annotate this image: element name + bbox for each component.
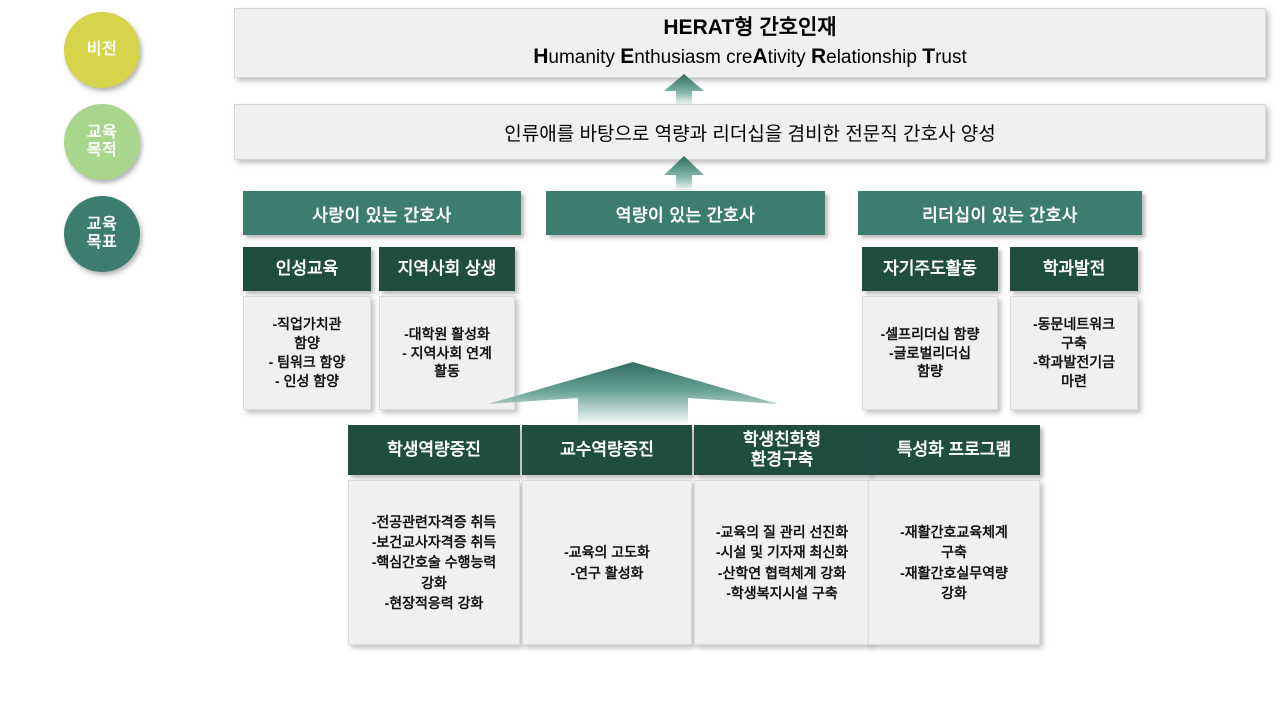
up-arrow-icon-to-purpose (664, 156, 704, 192)
sub-header-character-education-label: 인성교육 (276, 259, 339, 279)
sub-header-self-directed-activity: 자기주도활동 (862, 247, 998, 291)
strategy-header-special-program: 특성화 프로그램 (868, 425, 1040, 475)
vision-acronym: Humanity Enthusiasm creAtivity Relations… (533, 43, 967, 71)
acronym-letter-h: H (533, 45, 548, 68)
content-box-character-education: -직업가치관 함양 - 팀워크 함양 - 인성 함양 (243, 296, 371, 410)
vision-title: HERAT형 간호인재 (663, 15, 836, 41)
stage-circle-goal-label: 교육 목표 (87, 216, 117, 253)
content-box-self-directed-activity-items: -셀프리더십 함량 -글로벌리더십 함량 (881, 325, 980, 382)
strategy-header-friendly-environment: 학생친화형 환경구축 (694, 425, 870, 475)
strategy-header-faculty-competence: 교수역량증진 (522, 425, 692, 475)
strategy-box-friendly-environment-items: -교육의 질 관리 선진화 -시설 및 기자재 최신화 -산학연 협력체계 강화… (716, 522, 848, 603)
strategy-header-friendly-environment-label: 학생친화형 환경구축 (743, 430, 821, 469)
pillar-header-love: 사랑이 있는 간호사 (243, 191, 521, 235)
strategy-box-special-program: -재활간호교육체계 구축 -재활간호실무역량 강화 (868, 480, 1040, 645)
content-box-department-development: -동문네트워크 구축 -학과발전기금 마련 (1010, 296, 1138, 410)
stage-circle-goal: 교육 목표 (64, 196, 140, 272)
content-box-self-directed-activity: -셀프리더십 함량 -글로벌리더십 함량 (862, 296, 998, 410)
strategy-box-student-competence: -전공관련자격증 취득 -보건교사자격증 취득 -핵심간호술 수행능력 강화 -… (348, 480, 520, 645)
wide-up-arrow-icon (488, 358, 778, 426)
sub-header-department-development: 학과발전 (1010, 247, 1138, 291)
diagram-canvas: 비전 교육 목적 교육 목표 HERAT형 간호인재 Humanity Enth… (0, 0, 1280, 720)
content-box-community-cooperation-items: -대학원 활성화 - 지역사회 연계 활동 (402, 325, 492, 382)
strategy-header-student-competence: 학생역량증진 (348, 425, 520, 475)
content-box-character-education-items: -직업가치관 함양 - 팀워크 함양 - 인성 함양 (269, 315, 346, 391)
sub-header-self-directed-activity-label: 자기주도활동 (883, 259, 977, 279)
stage-circle-purpose: 교육 목적 (64, 104, 140, 180)
strategy-header-student-competence-label: 학생역량증진 (387, 440, 481, 460)
sub-header-character-education: 인성교육 (243, 247, 371, 291)
acronym-letter-e: E (620, 45, 634, 68)
acronym-rest-t: rust (935, 47, 967, 68)
pillar-header-love-label: 사랑이 있는 간호사 (312, 201, 452, 226)
up-arrow-icon-to-vision (664, 74, 704, 106)
sub-header-community-cooperation: 지역사회 상생 (379, 247, 515, 291)
purpose-banner: 인류애를 바탕으로 역량과 리더십을 겸비한 전문직 간호사 양성 (234, 104, 1266, 160)
acronym-rest-e: nthusiasm cre (634, 47, 752, 68)
sub-header-department-development-label: 학과발전 (1043, 259, 1106, 279)
strategy-box-faculty-competence: -교육의 고도화 -연구 활성화 (522, 480, 692, 645)
stage-circle-vision: 비전 (64, 12, 140, 88)
purpose-text: 인류애를 바탕으로 역량과 리더십을 겸비한 전문직 간호사 양성 (504, 119, 995, 146)
pillar-header-competence: 역량이 있는 간호사 (546, 191, 825, 235)
acronym-rest-r: elationship (826, 47, 922, 68)
strategy-box-friendly-environment: -교육의 질 관리 선진화 -시설 및 기자재 최신화 -산학연 협력체계 강화… (694, 480, 870, 645)
acronym-rest-h: umanity (548, 47, 620, 68)
vision-banner: HERAT형 간호인재 Humanity Enthusiasm creAtivi… (234, 8, 1266, 78)
pillar-header-leadership: 리더십이 있는 간호사 (858, 191, 1142, 235)
acronym-rest-a: tivity (768, 47, 811, 68)
acronym-letter-a: A (753, 45, 768, 68)
acronym-letter-t: T (922, 45, 935, 68)
sub-header-community-cooperation-label: 지역사회 상생 (398, 259, 497, 279)
pillar-header-competence-label: 역량이 있는 간호사 (616, 201, 756, 226)
strategy-box-special-program-items: -재활간호교육체계 구축 -재활간호실무역량 강화 (900, 522, 1008, 603)
strategy-box-student-competence-items: -전공관련자격증 취득 -보건교사자격증 취득 -핵심간호술 수행능력 강화 -… (372, 512, 496, 613)
stage-circle-vision-label: 비전 (87, 41, 117, 59)
acronym-letter-r: R (811, 45, 826, 68)
strategy-box-faculty-competence-items: -교육의 고도화 -연구 활성화 (564, 542, 650, 583)
stage-circle-purpose-label: 교육 목적 (87, 124, 117, 161)
content-box-department-development-items: -동문네트워크 구축 -학과발전기금 마련 (1033, 315, 1115, 391)
strategy-header-special-program-label: 특성화 프로그램 (897, 440, 1011, 460)
strategy-header-faculty-competence-label: 교수역량증진 (560, 440, 654, 460)
pillar-header-leadership-label: 리더십이 있는 간호사 (922, 201, 1078, 226)
